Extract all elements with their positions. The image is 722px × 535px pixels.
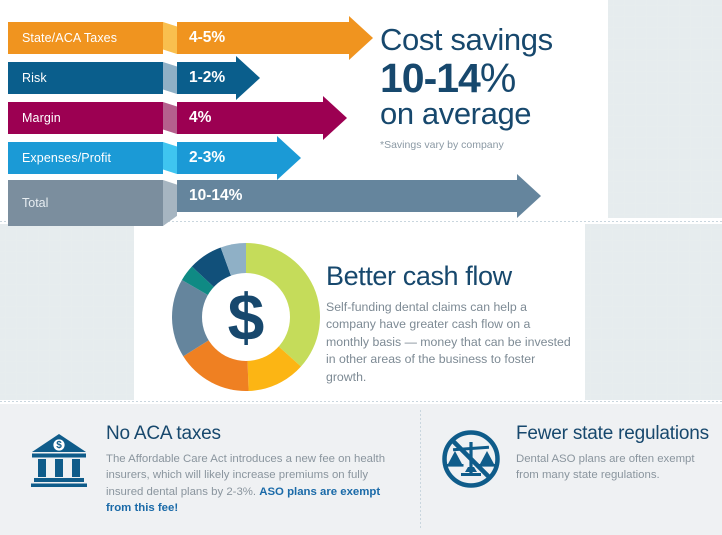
plus-pattern-top-right — [608, 0, 722, 218]
cash-flow-body: Self-funding dental claims can help a co… — [326, 299, 576, 386]
bar-fold — [163, 22, 177, 54]
bar-value-label: 4% — [189, 102, 211, 134]
headline-footnote: *Savings vary by company — [380, 139, 610, 151]
cost-savings-headline: Cost savings 10-14% on average *Savings … — [380, 24, 610, 151]
cash-flow-donut-chart: $ — [172, 243, 320, 391]
total-value-label: 10-14% — [189, 180, 242, 212]
bar-value-label: 2-3% — [189, 142, 225, 174]
dollar-sign-icon: $ — [228, 280, 265, 354]
card-no-aca-text: No ACA taxes The Affordable Care Act int… — [106, 424, 398, 517]
bar-arrow-head — [236, 56, 260, 100]
card-regulations-body: Dental ASO plans are often exempt from m… — [516, 451, 710, 484]
bank-icon: $ — [28, 428, 90, 490]
svg-text:$: $ — [56, 440, 62, 451]
bar-fold — [163, 142, 177, 174]
plus-pattern-mid-left — [0, 224, 134, 400]
card-no-aca-heading: No ACA taxes — [106, 424, 398, 445]
headline-number: 10-14 — [380, 55, 480, 101]
card-regulations-text: Fewer state regulations Dental ASO plans… — [516, 424, 710, 484]
card-regulations-heading: Fewer state regulations — [516, 424, 710, 445]
headline-percent: % — [480, 55, 515, 101]
cash-flow-text-block: Better cash flow Self-funding dental cla… — [326, 262, 576, 386]
infographic-canvas: State/ACA Taxes4-5%Risk1-2%Margin4%Expen… — [0, 0, 722, 535]
plus-pattern-mid-right — [585, 224, 722, 400]
divider-bottom — [0, 401, 722, 402]
bar-label: Risk — [8, 62, 163, 94]
bar-arrow-head — [349, 16, 373, 60]
headline-line-3: on average — [380, 98, 610, 131]
headline-number-line: 10-14% — [380, 57, 610, 100]
bar-fold — [163, 62, 177, 94]
total-fold — [163, 180, 177, 226]
cash-flow-heading: Better cash flow — [326, 262, 576, 292]
card-no-aca-body: The Affordable Care Act introduces a new… — [106, 451, 398, 517]
bar-value-label: 4-5% — [189, 22, 225, 54]
divider-vertical — [420, 410, 421, 528]
bar-fold — [163, 102, 177, 134]
headline-line-1: Cost savings — [380, 24, 610, 55]
bar-label: Expenses/Profit — [8, 142, 163, 174]
bar-label: Margin — [8, 102, 163, 134]
bar-arrow-head — [323, 96, 347, 140]
donut-svg: $ — [172, 243, 320, 391]
bar-value-label: 1-2% — [189, 62, 225, 94]
bar-label: State/ACA Taxes — [8, 22, 163, 54]
bar-arrow-head — [277, 136, 301, 180]
total-arrow-head — [517, 174, 541, 218]
no-scales-icon — [440, 428, 502, 490]
total-label: Total — [8, 180, 163, 226]
